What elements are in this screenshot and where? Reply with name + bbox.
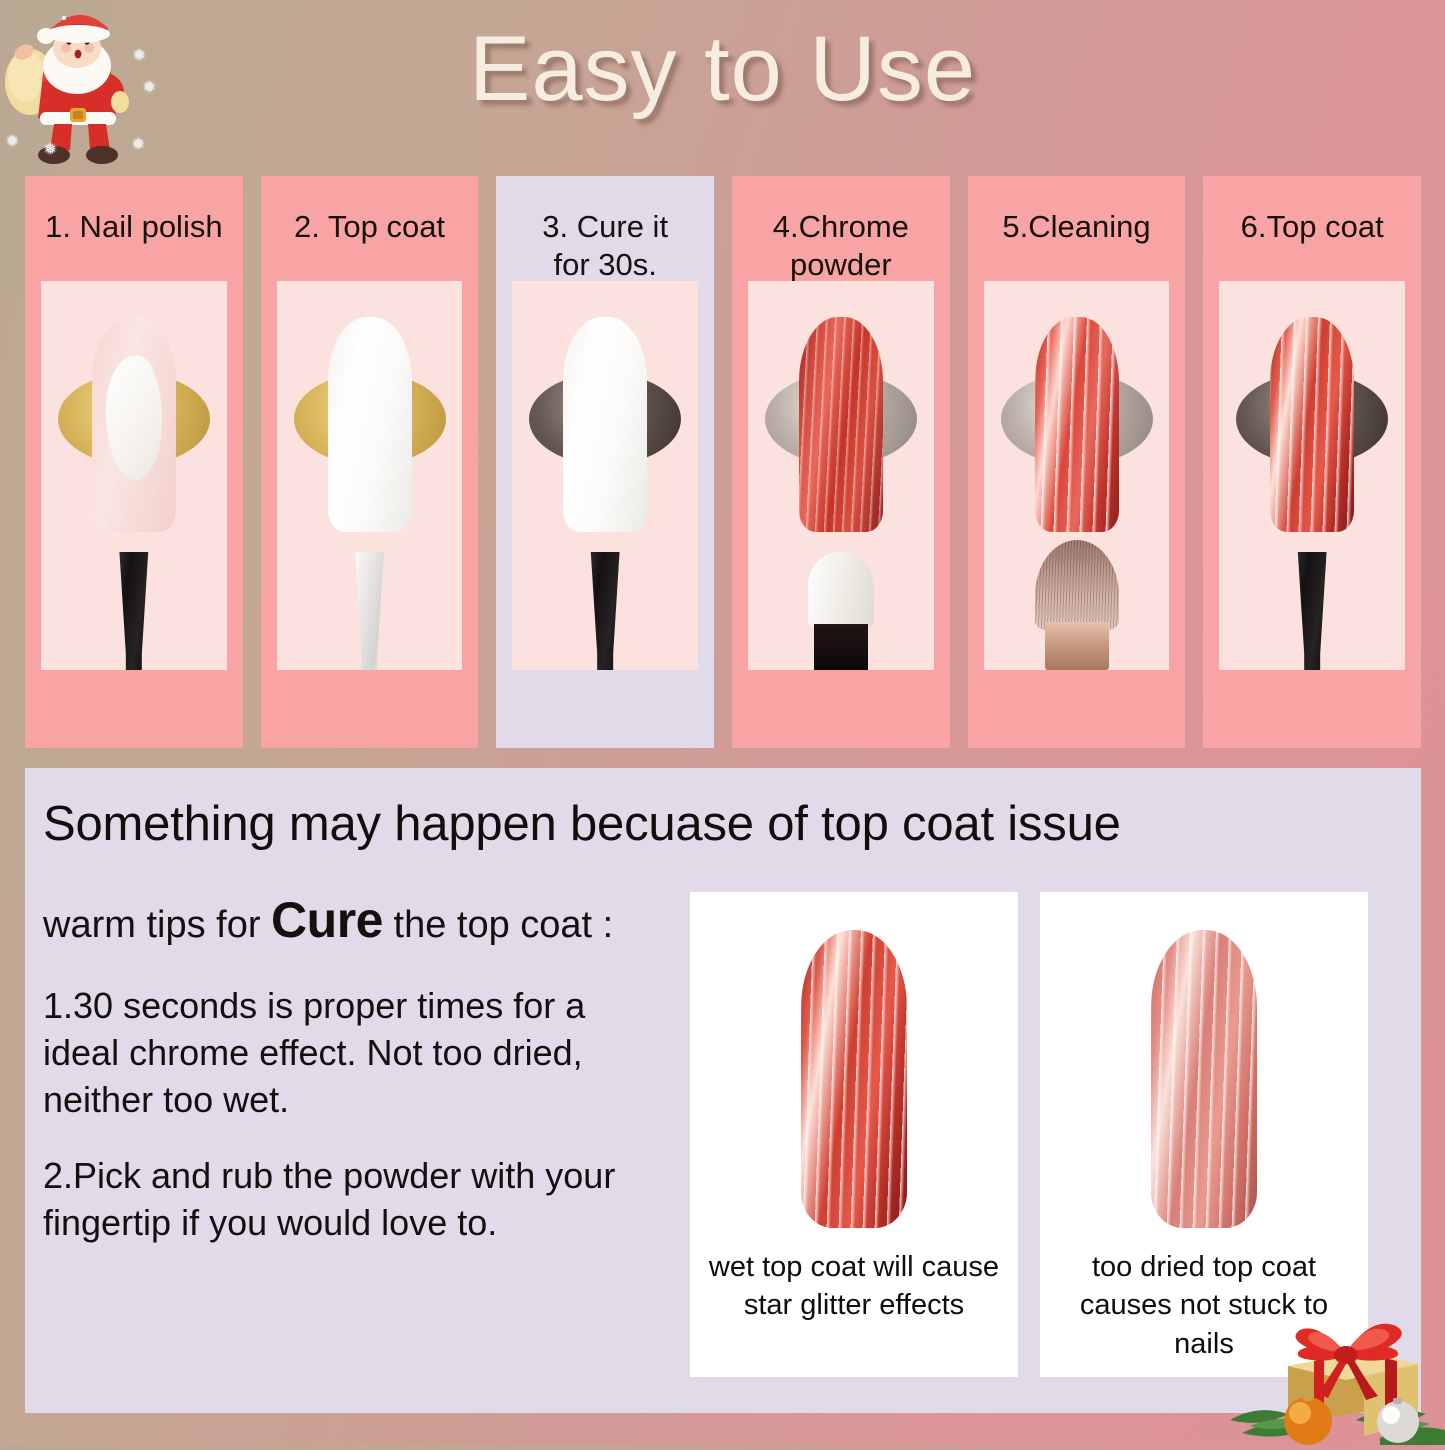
step-photo-1 [41,281,227,670]
step-card-1: 1. Nail polish [25,176,243,748]
clear-pink-nail-icon [92,317,176,532]
step-card-4: 4.Chrome powder [732,176,950,748]
steps-row: 1. Nail polish 2. Top coat 3. Cure it fo… [25,176,1421,748]
step-label-4: 4.Chrome powder [732,176,950,284]
warm-tips-section: warm tips for Cure the top coat : 1.30 s… [43,888,668,1377]
black-brush-icon [1292,552,1332,670]
sponge-applicator-icon [808,552,874,670]
white-nail-icon [328,317,412,532]
glitter-red-nail-icon [799,317,883,532]
tips-lead-emphasis: Cure [271,892,383,948]
deep-red-chrome-nail-icon [801,930,907,1228]
chrome-red-nail-icon [1035,317,1119,532]
white-brush-icon [350,552,390,670]
step-photo-2 [277,281,463,670]
panel-body: warm tips for Cure the top coat : 1.30 s… [25,852,1421,1377]
step-label-3: 3. Cure it for 30s. [496,176,714,284]
step-photo-5 [984,281,1170,670]
step-card-2: 2. Top coat [261,176,479,748]
step-card-5: 5.Cleaning [968,176,1186,748]
step-photo-3 [512,281,698,670]
snowflake-icon: ❅ [132,137,145,152]
snowflake-icon: ❅ [6,134,19,149]
tips-lead-before: warm tips for [43,904,271,946]
panel-heading: Something may happen becuase of top coat… [25,768,1421,852]
top-coat-issue-panel: Something may happen becuase of top coat… [25,768,1421,1413]
snowflake-icon: ❅ [44,142,57,157]
white-nail-icon [563,317,647,532]
dusting-brush-icon [1021,540,1133,670]
step-label-2: 2. Top coat [261,176,479,246]
step-card-3: 3. Cure it for 30s. [496,176,714,748]
rose-pink-chrome-nail-icon [1151,930,1257,1228]
black-brush-icon [585,552,625,670]
step-label-5: 5.Cleaning [968,176,1186,246]
comparison-caption-1: wet top coat will cause star glitter eff… [690,1240,1018,1325]
comparison-card-1: wet top coat will cause star glitter eff… [690,892,1018,1377]
step-label-1: 1. Nail polish [25,176,243,246]
step-label-6: 6.Top coat [1203,176,1421,246]
step-photo-4 [748,281,934,670]
step-photo-6 [1219,281,1405,670]
page-title: Easy to Use [0,22,1445,118]
black-brush-icon [114,552,154,670]
step-card-6: 6.Top coat [1203,176,1421,748]
comparison-image-2 [1040,910,1368,1240]
tip-item-2: 2.Pick and rub the powder with your fing… [43,1153,668,1247]
comparison-image-1 [690,910,1018,1240]
christmas-gift-icon [1230,1270,1445,1445]
warm-tips-lead: warm tips for Cure the top coat : [43,888,668,953]
chrome-red-nail-icon [1270,317,1354,532]
tips-lead-after: the top coat : [383,904,613,946]
tip-item-1: 1.30 seconds is proper times for a ideal… [43,983,668,1123]
